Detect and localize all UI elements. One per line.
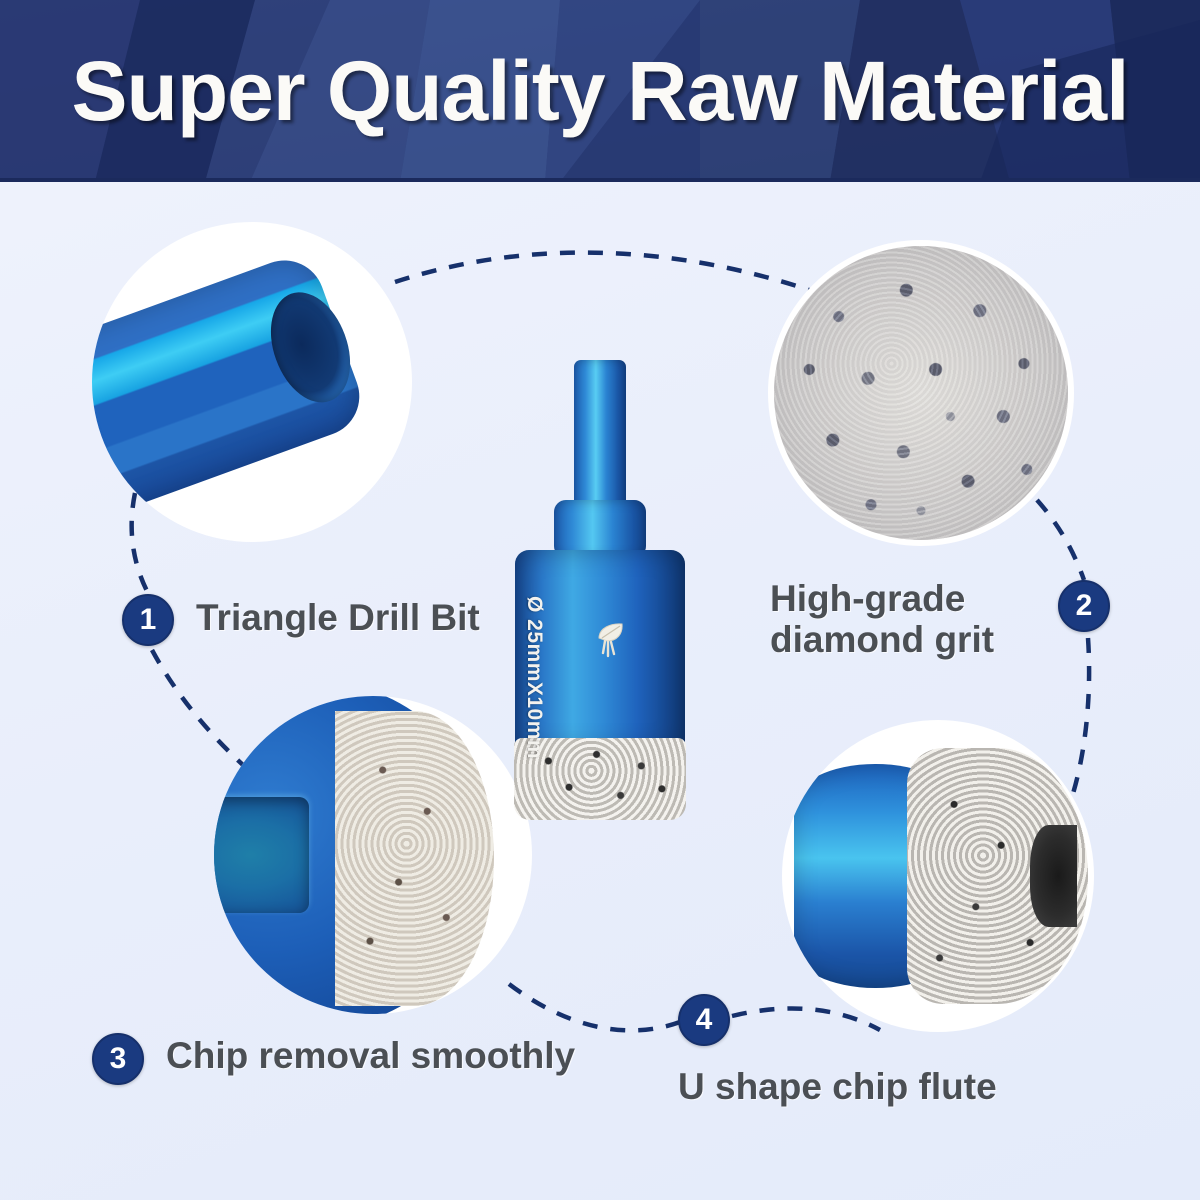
hex-shank-shape	[92, 250, 371, 518]
photo-diamond-grit	[768, 240, 1074, 546]
crown-grit-shape	[907, 748, 1088, 1004]
u-slot-shape	[214, 797, 309, 914]
callout-label-2: High-grade diamond grit	[770, 578, 994, 661]
callout-badge-3[interactable]: 3	[92, 1033, 144, 1085]
callout-label-4: U shape chip flute	[678, 1066, 997, 1107]
product-shank	[574, 360, 626, 512]
header-banner: Super Quality Raw Material	[0, 0, 1200, 182]
u-notch-shape	[1030, 825, 1077, 927]
callout-badge-2[interactable]: 2	[1058, 580, 1110, 632]
photo-u-shape-flute	[782, 720, 1094, 1032]
grit-image	[768, 240, 1074, 546]
callout-label-1: Triangle Drill Bit	[196, 597, 480, 638]
center-product-drill-bit: Ø 25mmX10mm	[455, 360, 745, 830]
callout-label-3: Chip removal smoothly	[166, 1035, 575, 1076]
brand-leaf-logo-icon	[594, 622, 628, 662]
u-flute-image	[782, 720, 1094, 1032]
callout-badge-4[interactable]: 4	[678, 994, 730, 1046]
photo-triangle-shank	[92, 222, 412, 542]
product-spec-label: Ø 25mmX10mm	[522, 596, 546, 759]
header-divider	[0, 178, 1200, 182]
diamond-grit-texture	[774, 246, 1068, 540]
flute-body-shape	[214, 696, 487, 1014]
infographic-stage: Ø 25mmX10mm 1 Triangle Drill Bit 2 High-…	[0, 182, 1200, 1200]
page-title: Super Quality Raw Material	[0, 0, 1200, 182]
shank-image	[92, 222, 412, 542]
callout-badge-1[interactable]: 1	[122, 594, 174, 646]
